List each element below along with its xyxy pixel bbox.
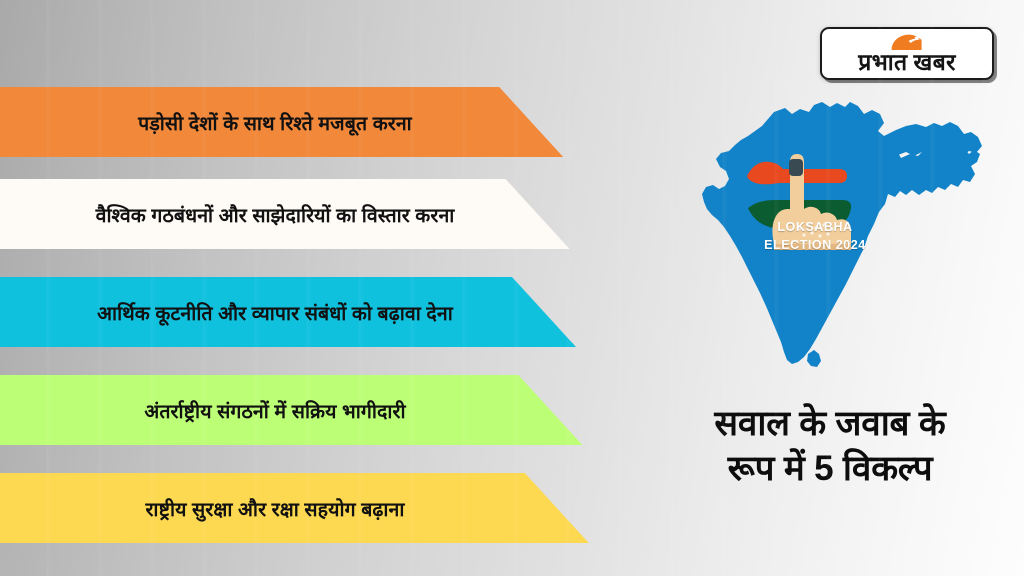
option-banner-4[interactable]: अंतर्राष्ट्रीय संगठनों में सक्रिय भागीदा…: [0, 375, 640, 445]
map-caption-line-2: ELECTION 2024: [745, 236, 885, 254]
option-banner-1-label: पड़ोसी देशों के साथ रिश्ते मजबूत करना: [0, 109, 640, 136]
option-banner-2[interactable]: वैश्विक गठबंधनों और साझेदारियों का विस्त…: [0, 179, 640, 249]
option-banner-5[interactable]: राष्ट्रीय सुरक्षा और रक्षा सहयोग बढ़ाना: [0, 473, 640, 543]
brand-logo-text: प्रभात खबर: [858, 51, 956, 78]
option-banner-5-label: राष्ट्रीय सुरक्षा और रक्षा सहयोग बढ़ाना: [0, 495, 640, 522]
headline: सवाल के जवाब के रूप में 5 विकल्प: [648, 402, 1012, 492]
infographic-canvas: पड़ोसी देशों के साथ रिश्ते मजबूत करना वै…: [0, 0, 1024, 576]
brand-logo-badge[interactable]: प्रभात खबर: [820, 27, 994, 80]
map-caption-line-1: LOKSABHA: [745, 218, 885, 236]
map-caption: LOKSABHA ELECTION 2024: [745, 218, 885, 254]
option-banner-3[interactable]: आर्थिक कूटनीति और व्यापार संबंधों को बढ़…: [0, 277, 640, 347]
option-banner-1[interactable]: पड़ोसी देशों के साथ रिश्ते मजबूत करना: [0, 87, 640, 157]
sunrise-bird-icon: [889, 32, 929, 51]
headline-line-2: रूप में 5 विकल्प: [648, 447, 1012, 492]
options-banner-stack: पड़ोसी देशों के साथ रिश्ते मजबूत करना वै…: [0, 0, 640, 576]
option-banner-3-label: आर्थिक कूटनीति और व्यापार संबंधों को बढ़…: [0, 299, 640, 326]
headline-line-1: सवाल के जवाब के: [648, 402, 1012, 447]
option-banner-2-label: वैश्विक गठबंधनों और साझेदारियों का विस्त…: [0, 201, 640, 228]
option-banner-4-label: अंतर्राष्ट्रीय संगठनों में सक्रिय भागीदा…: [0, 397, 640, 424]
